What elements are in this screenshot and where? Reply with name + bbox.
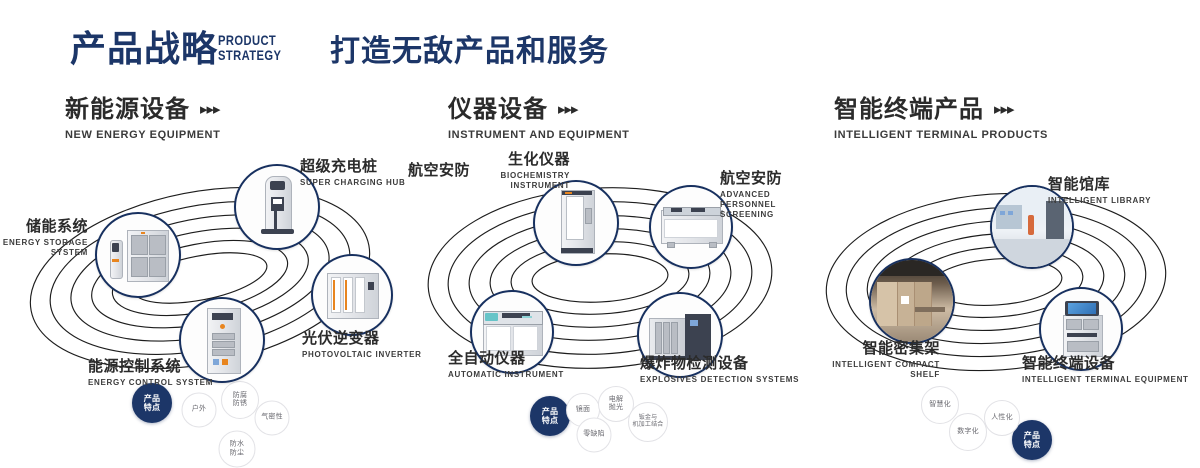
node-label-cn: 智能密集架 xyxy=(740,340,940,358)
node-label-cn: 智能终端设备 xyxy=(1022,355,1189,373)
feature-bubble[interactable]: 户外 xyxy=(182,393,217,428)
node-label-cn: 能源控制系统 xyxy=(88,358,213,376)
personnel-screening-machine-icon xyxy=(651,187,731,267)
label-automatic-instrument: 全自动仪器 AUTOMATIC INSTRUMENT xyxy=(448,350,564,380)
node-label-en: INTELLIGENT LIBRARY xyxy=(1048,196,1151,206)
section-heading-new-energy: 新能源设备▸▸▸ NEW ENERGY EQUIPMENT xyxy=(65,96,220,141)
section-title-cn: 仪器设备 xyxy=(448,96,548,123)
core-bubble-product-features[interactable]: 产品特点 xyxy=(132,383,172,423)
section-title-cn: 新能源设备 xyxy=(65,96,190,123)
product-strategy-infographic: 产品战略 PRODUCT STRATEGY 打造无敌产品和服务 新能源设备▸▸▸… xyxy=(0,0,1200,422)
chevron-right-icon: ▸▸▸ xyxy=(200,96,220,124)
feature-line2: 抛光 xyxy=(609,404,623,411)
node-label-en: BIOCHEMISTRY INSTRUMENT xyxy=(482,171,570,191)
node-label-en: ENERGY STORAGE SYSTEM xyxy=(0,238,88,258)
page-title-english: PRODUCT STRATEGY xyxy=(218,33,281,63)
node-label-cn: 智能馆库 xyxy=(1048,176,1151,194)
node-intelligent-compact-shelf[interactable] xyxy=(869,258,955,344)
feature-line1: 气密性 xyxy=(261,414,283,421)
node-label-en: ENERGY CONTROL SYSTEM xyxy=(88,378,213,388)
node-label-cn: 全自动仪器 xyxy=(448,350,564,368)
feature-bubble[interactable]: 人性化 xyxy=(984,400,1020,436)
energy-storage-cabinet-icon xyxy=(97,214,179,296)
header: 产品战略 PRODUCT STRATEGY 打造无敌产品和服务 xyxy=(0,0,1200,88)
feature-line2: 防锈 xyxy=(233,400,247,407)
feature-line1: 防水 xyxy=(230,441,244,448)
core-bubble-product-features[interactable]: 产品特点 xyxy=(530,396,570,436)
pv-inverter-cabinet-icon xyxy=(313,256,391,334)
core-label-line2: 特点 xyxy=(1024,440,1040,449)
feature-line1: 零缺陷 xyxy=(583,431,605,438)
page-title-en-line1: PRODUCT xyxy=(218,32,276,48)
label-energy-storage-system: 储能系统 ENERGY STORAGE SYSTEM xyxy=(0,218,88,258)
node-label-cn: 生化仪器 xyxy=(380,151,570,169)
feature-bubble[interactable]: 防水防尘 xyxy=(219,431,256,468)
cluster-intelligent-terminal: 产品特点 智慧化 数字化 人性化 智能馆库 INTELLIGENT LIB xyxy=(800,150,1200,422)
label-advanced-personnel-screening: 航空安防 ADVANCED PERSONNEL SCREENING xyxy=(720,170,808,220)
section-heading-intelligent-terminal: 智能终端产品▸▸▸ INTELLIGENT TERMINAL PRODUCTS xyxy=(834,96,1048,141)
section-heading-instrument: 仪器设备▸▸▸ INSTRUMENT AND EQUIPMENT xyxy=(448,96,629,141)
feature-line2: 机加工结合 xyxy=(632,422,663,428)
core-label-line2: 特点 xyxy=(144,403,160,412)
core-label-line2: 特点 xyxy=(542,416,558,425)
feature-line1: 钣金与 xyxy=(639,415,658,421)
page-title: 产品战略 xyxy=(70,28,218,70)
label-intelligent-compact-shelf: 智能密集架 INTELLIGENT COMPACT SHELF xyxy=(740,340,940,380)
feature-bubble[interactable]: 防腐防锈 xyxy=(221,381,259,419)
core-label-line1: 产品 xyxy=(1024,431,1040,440)
label-intelligent-library: 智能馆库 INTELLIGENT LIBRARY xyxy=(1048,176,1151,206)
node-energy-storage-system[interactable] xyxy=(95,212,181,298)
chevron-right-icon: ▸▸▸ xyxy=(994,96,1014,124)
node-photovoltaic-inverter[interactable] xyxy=(311,254,393,336)
cluster-instrument: 产品特点 镜面 电解抛光 钣金与机加工结合 零缺陷 航空安防 xyxy=(400,150,800,422)
core-label-line1: 产品 xyxy=(542,407,558,416)
feature-bubble[interactable]: 零缺陷 xyxy=(577,418,612,453)
feature-line1: 防腐 xyxy=(233,392,247,399)
section-title-en: INTELLIGENT TERMINAL PRODUCTS xyxy=(834,129,1048,141)
feature-line2: 防尘 xyxy=(230,449,244,456)
feature-line1: 电解 xyxy=(609,396,623,403)
page-subtitle: 打造无敌产品和服务 xyxy=(330,33,609,71)
page-title-en-line2: STRATEGY xyxy=(218,48,281,63)
label-biochemistry-instrument: 生化仪器 BIOCHEMISTRY INSTRUMENT xyxy=(380,151,570,191)
feature-line1: 人性化 xyxy=(991,414,1013,421)
node-label-en: AUTOMATIC INSTRUMENT xyxy=(448,370,564,380)
feature-line1: 数字化 xyxy=(957,428,979,435)
node-biochemistry-instrument[interactable] xyxy=(533,180,619,266)
label-intelligent-terminal-equipment: 智能终端设备 INTELLIGENT TERMINAL EQUIPMENT xyxy=(1022,355,1189,385)
feature-bubble[interactable]: 数字化 xyxy=(949,413,987,451)
section-title-cn: 智能终端产品 xyxy=(834,96,984,123)
feature-line1: 户外 xyxy=(192,406,206,413)
node-label-en: ADVANCED PERSONNEL SCREENING xyxy=(720,190,808,220)
feature-line1: 镜面 xyxy=(576,406,590,413)
compact-shelving-icon xyxy=(871,260,953,342)
node-label-en: INTELLIGENT TERMINAL EQUIPMENT xyxy=(1022,375,1189,385)
node-label-cn: 航空安防 xyxy=(720,170,808,188)
feature-line1: 智慧化 xyxy=(929,401,951,408)
label-energy-control-system: 能源控制系统 ENERGY CONTROL SYSTEM xyxy=(88,358,213,388)
node-label-cn: 储能系统 xyxy=(0,218,88,236)
section-title-en: INSTRUMENT AND EQUIPMENT xyxy=(448,129,629,141)
chevron-right-icon: ▸▸▸ xyxy=(558,96,578,124)
feature-bubble[interactable]: 气密性 xyxy=(255,401,290,436)
cluster-new-energy: 产品特点 户外 防水防尘 防腐防锈 气密性 xyxy=(0,150,400,422)
core-label-line1: 产品 xyxy=(144,394,160,403)
feature-bubble[interactable]: 钣金与机加工结合 xyxy=(628,402,668,442)
node-label-en: INTELLIGENT COMPACT SHELF xyxy=(820,360,940,380)
biochemistry-scanner-icon xyxy=(535,182,617,264)
section-title-en: NEW ENERGY EQUIPMENT xyxy=(65,129,220,141)
